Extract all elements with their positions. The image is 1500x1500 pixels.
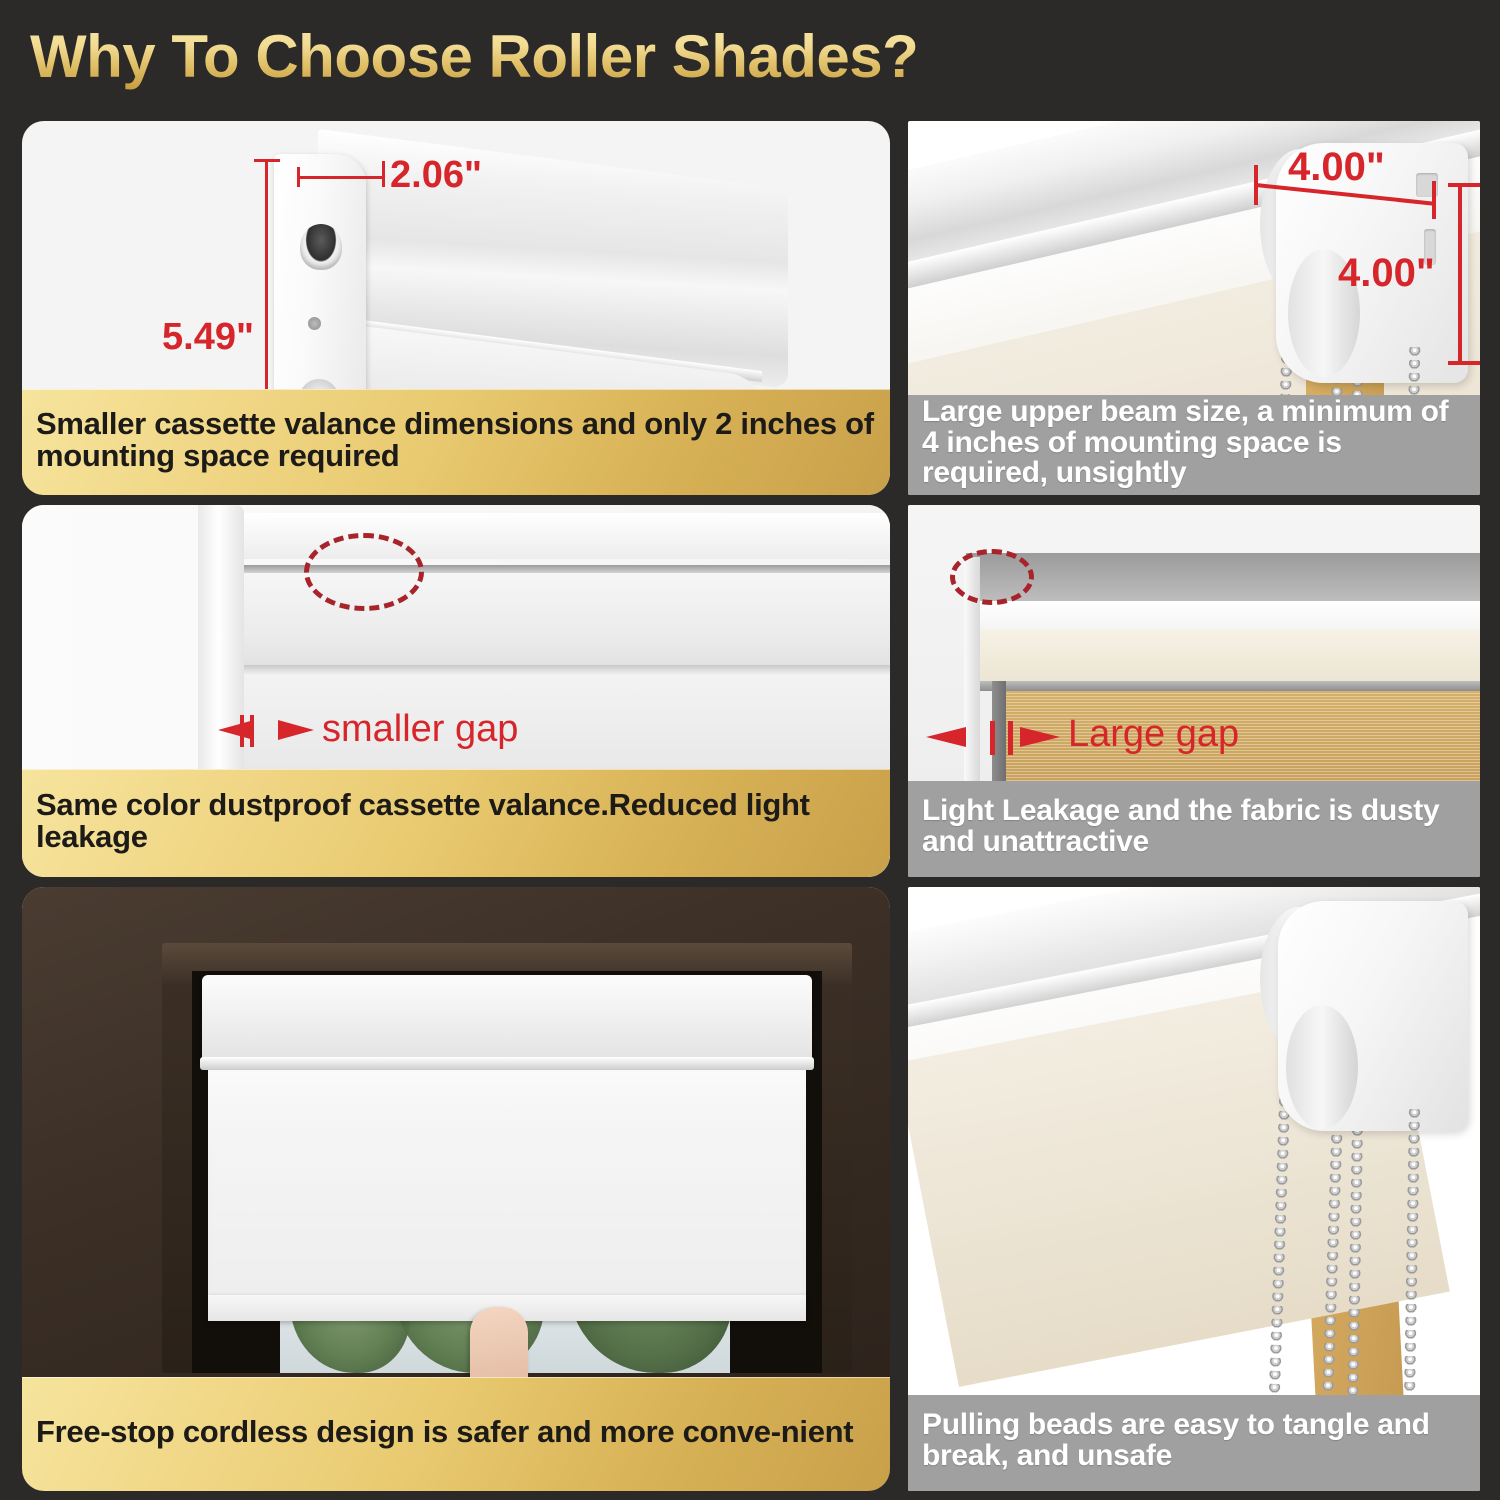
beam-height-line	[1458, 183, 1462, 365]
comparison-grid: 5.49" 2.06" Smaller cassette valance dim…	[0, 113, 1500, 1500]
beam-shadow-band	[966, 553, 1480, 601]
panel-4-caption: Light Leakage and the fabric is dusty an…	[908, 781, 1480, 877]
panel-1-caption: Smaller cassette valance dimensions and …	[22, 389, 890, 495]
panel-1-caption-text: Smaller cassette valance dimensions and …	[36, 408, 876, 471]
dashed-highlight-circle	[950, 549, 1034, 605]
panel-large-beam: 4.00" 4.00" Large upper beam size, a min…	[908, 121, 1480, 495]
cassette-valance-lip	[200, 1057, 814, 1070]
width-dimension-line	[297, 176, 385, 179]
panel-5-caption-text: Free-stop cordless design is safer and m…	[36, 1416, 853, 1448]
page-header: Why To Choose Roller Shades?	[0, 0, 1500, 113]
panel-cordless-design: Free-stop cordless design is safer and m…	[22, 887, 890, 1491]
beam-height-tick-top	[1448, 183, 1480, 187]
beam-width-tick-right	[1432, 181, 1436, 219]
panel-2-caption-text: Large upper beam size, a minimum of 4 in…	[922, 397, 1466, 489]
panel-pulling-beads: Pulling beads are easy to tangle and bre…	[908, 887, 1480, 1491]
width-dimension-tick-left	[297, 167, 300, 187]
valance-bottom-rail	[966, 681, 1480, 691]
light-gap-shadow	[992, 681, 1006, 789]
height-dimension-label: 5.49"	[162, 316, 254, 359]
end-cap-screw	[308, 317, 321, 330]
panel-3-caption-text: Same color dustproof cassette valance.Re…	[36, 789, 876, 852]
height-dimension-tick-top	[254, 159, 280, 162]
panel-6-caption-text: Pulling beads are easy to tangle and bre…	[922, 1410, 1466, 1471]
roller-end-disc-lower	[1286, 1005, 1358, 1129]
end-cap-knob	[300, 224, 342, 270]
panel-light-leakage: Large gap Light Leakage and the fabric i…	[908, 505, 1480, 877]
panel-dustproof-valance: smaller gap Same color dustproof cassett…	[22, 505, 890, 877]
beam-height-label: 4.00"	[1338, 251, 1435, 296]
valance-cream-band	[966, 629, 1480, 681]
panel-4-caption-text: Light Leakage and the fabric is dusty an…	[922, 796, 1466, 857]
valance-mid-rail	[236, 665, 890, 675]
panel-smaller-cassette: 5.49" 2.06" Smaller cassette valance dim…	[22, 121, 890, 495]
beam-width-tick-left	[1254, 165, 1258, 205]
page-title: Why To Choose Roller Shades?	[30, 22, 918, 91]
roller-shade-fabric-lower	[212, 1121, 802, 1319]
panel-5-caption: Free-stop cordless design is safer and m…	[22, 1377, 890, 1491]
beam-width-label: 4.00"	[1288, 145, 1385, 190]
width-dimension-tick-right	[382, 161, 385, 187]
panel-6-caption: Pulling beads are easy to tangle and bre…	[908, 1395, 1480, 1491]
panel-3-caption: Same color dustproof cassette valance.Re…	[22, 769, 890, 877]
smaller-gap-label: smaller gap	[322, 708, 518, 751]
dashed-highlight-circle	[304, 533, 424, 611]
cassette-valance	[202, 975, 812, 1061]
width-dimension-label: 2.06"	[390, 154, 482, 197]
beam-height-tick-bottom	[1448, 361, 1480, 365]
panel-2-caption: Large upper beam size, a minimum of 4 in…	[908, 395, 1480, 495]
large-gap-label: Large gap	[1068, 713, 1239, 756]
